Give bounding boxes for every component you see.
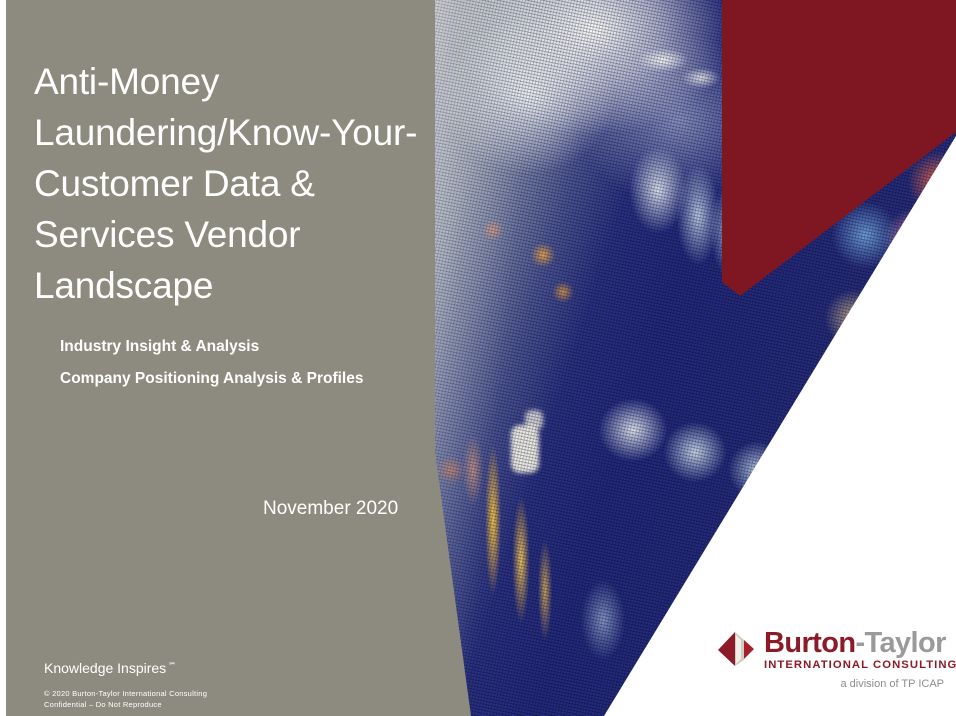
logo-name-taylor: -Taylor: [855, 627, 945, 659]
copyright-line-2: Confidential – Do Not Reproduce: [44, 699, 207, 710]
copyright-notice: © 2020 Burton-Taylor International Consu…: [44, 688, 207, 710]
logo-subtitle: INTERNATIONAL CONSULTING: [764, 659, 956, 671]
publication-date: November 2020: [263, 498, 398, 520]
background-photo-led-ticker: [433, 0, 956, 716]
logo-row: Burton-Taylor INTERNATIONAL CONSULTING: [714, 626, 946, 671]
logo-name: Burton-Taylor: [764, 628, 956, 658]
tagline-text: Knowledge Inspires: [44, 660, 166, 676]
title-slide: Anti-Money Laundering/Know-Your-Customer…: [0, 0, 956, 716]
subtitle-block: Industry Insight & Analysis Company Posi…: [60, 336, 390, 389]
logo-name-burton: Burton: [764, 627, 855, 659]
logo-division-line: a division of TP ICAP: [714, 678, 946, 690]
subtitle-line-industry-insight: Industry Insight & Analysis: [60, 336, 390, 357]
subtitle-line-company-positioning: Company Positioning Analysis & Profiles: [60, 368, 390, 389]
logo-wordmark: Burton-Taylor INTERNATIONAL CONSULTING: [764, 626, 956, 671]
photo-edge-sheen: [433, 0, 956, 716]
copyright-line-1: © 2020 Burton-Taylor International Consu…: [44, 688, 207, 699]
burton-taylor-diamond-icon: [714, 629, 756, 669]
page-title: Anti-Money Laundering/Know-Your-Customer…: [34, 56, 434, 311]
burton-taylor-logo: Burton-Taylor INTERNATIONAL CONSULTING a…: [714, 626, 946, 690]
tagline: Knowledge Inspires℠: [44, 660, 176, 676]
service-mark-icon: ℠: [168, 661, 176, 670]
